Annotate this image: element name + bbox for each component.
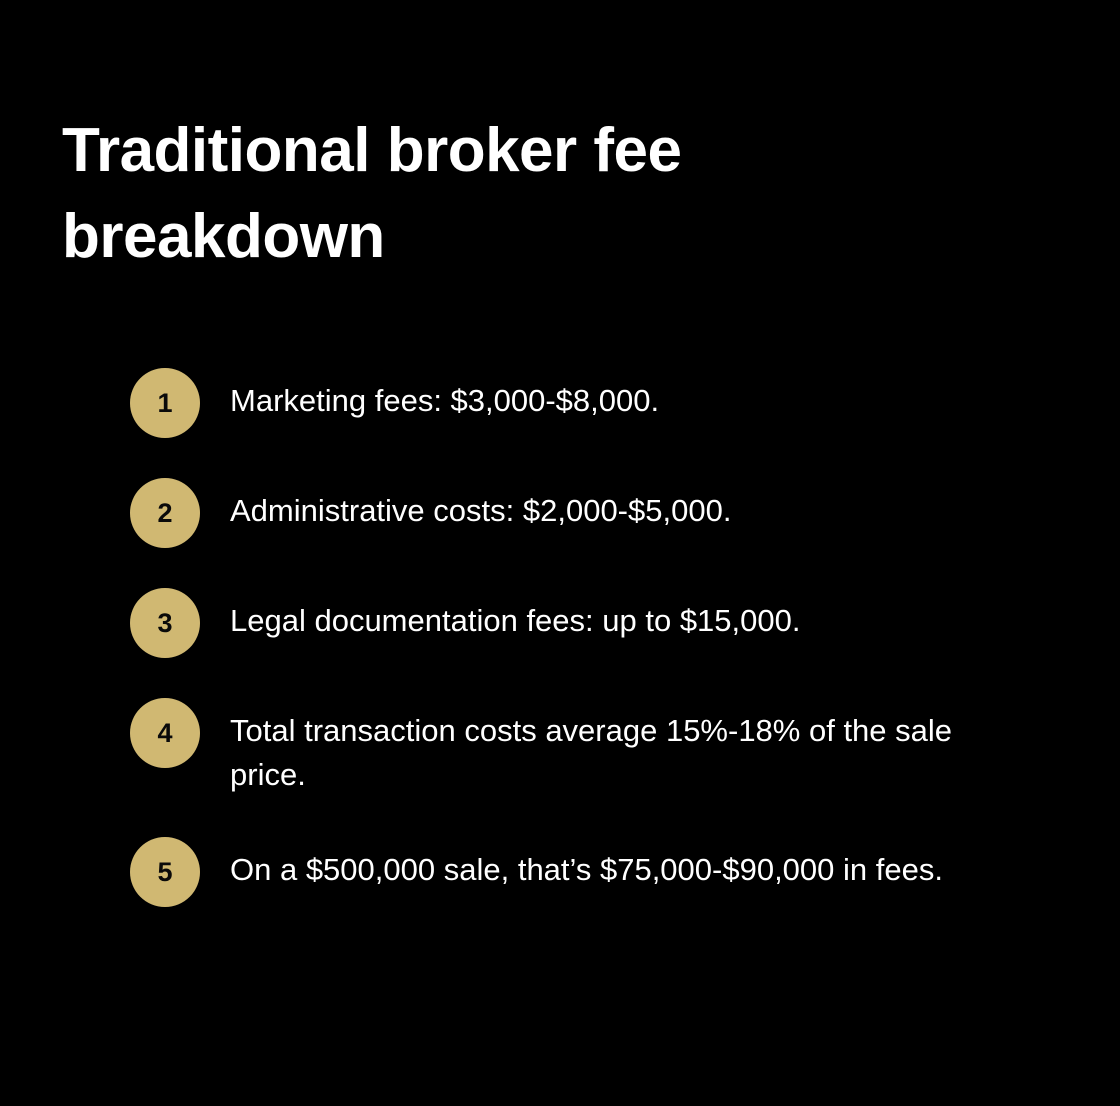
- list-number-badge: 3: [130, 588, 200, 658]
- list-number-badge: 4: [130, 698, 200, 768]
- list-item-text: Total transaction costs average 15%-18% …: [230, 698, 1020, 797]
- list-item-text: Legal documentation fees: up to $15,000.: [230, 588, 1020, 643]
- slide-canvas: Traditional broker fee breakdown 1 Marke…: [0, 0, 1120, 1106]
- list-item: 4 Total transaction costs average 15%-18…: [130, 698, 1070, 797]
- page-title: Traditional broker fee breakdown: [62, 108, 922, 280]
- list-item: 2 Administrative costs: $2,000-$5,000.: [130, 478, 1070, 548]
- list-number-badge: 1: [130, 368, 200, 438]
- list-number-badge: 2: [130, 478, 200, 548]
- list-item-text: Marketing fees: $3,000-$8,000.: [230, 368, 1020, 423]
- list-item-text: Administrative costs: $2,000-$5,000.: [230, 478, 1020, 533]
- list-item-text: On a $500,000 sale, that’s $75,000-$90,0…: [230, 837, 1020, 892]
- list-item: 5 On a $500,000 sale, that’s $75,000-$90…: [130, 837, 1070, 907]
- list-item: 3 Legal documentation fees: up to $15,00…: [130, 588, 1070, 658]
- list-number-badge: 5: [130, 837, 200, 907]
- fee-breakdown-list: 1 Marketing fees: $3,000-$8,000. 2 Admin…: [130, 368, 1070, 907]
- list-item: 1 Marketing fees: $3,000-$8,000.: [130, 368, 1070, 438]
